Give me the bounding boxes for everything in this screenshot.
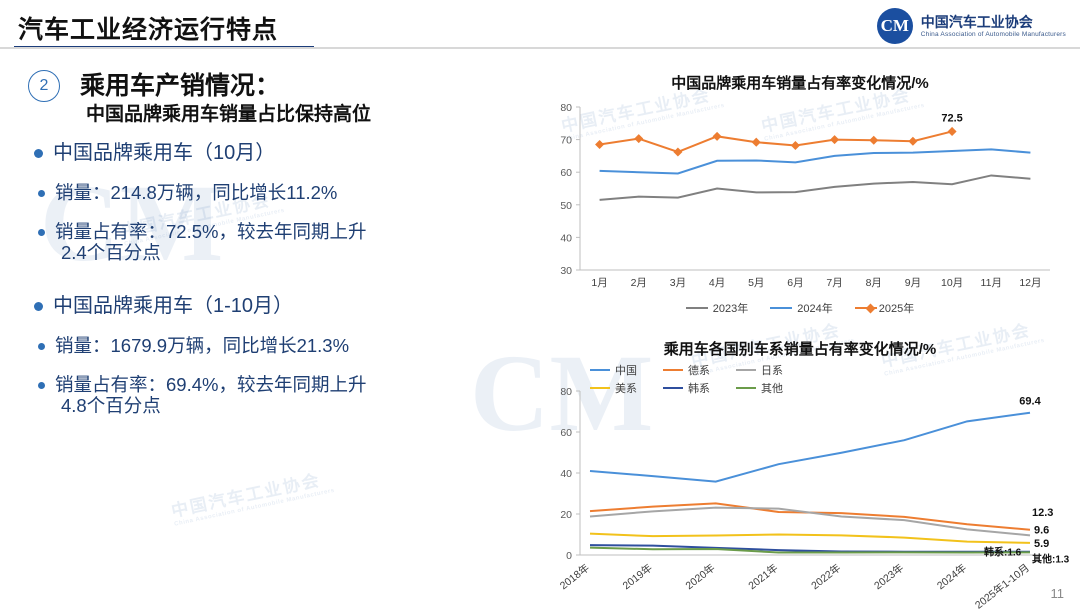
legend-swatch	[663, 369, 683, 371]
svg-text:70: 70	[560, 135, 572, 147]
legend-label: 美系	[615, 380, 637, 396]
legend-label: 德系	[688, 362, 710, 378]
svg-text:10月: 10月	[941, 277, 963, 289]
svg-text:2024年: 2024年	[934, 561, 969, 592]
legend-label: 日系	[761, 362, 783, 378]
logo-text-en: China Association of Automobile Manufact…	[921, 31, 1066, 38]
chart-title: 中国品牌乘用车销量占有率变化情况/%	[530, 72, 1070, 93]
svg-text:2023年: 2023年	[871, 561, 906, 592]
svg-text:80: 80	[560, 102, 572, 114]
legend-label: 其他	[761, 380, 783, 396]
svg-text:9月: 9月	[905, 277, 921, 289]
chart-canvas: 0204060802018年2019年2020年2021年2022年2023年2…	[530, 383, 1070, 613]
svg-text:69.4: 69.4	[1019, 396, 1041, 408]
legend-item: 其他	[736, 380, 783, 396]
svg-text:5.9: 5.9	[1034, 538, 1049, 550]
svg-text:0: 0	[566, 550, 572, 562]
svg-text:40: 40	[560, 468, 572, 480]
chart-canvas: 3040506070801月2月3月4月5月6月7月8月9月10月11月12月7…	[530, 93, 1070, 298]
logo-text-cn: 中国汽车工业协会	[921, 14, 1066, 30]
svg-text:9.6: 9.6	[1034, 524, 1049, 536]
svg-text:2021年: 2021年	[746, 561, 781, 592]
page-header: 汽车工业经济运行特点 CM 中国汽车工业协会 China Association…	[0, 0, 1080, 52]
caam-logo-icon: CM	[877, 8, 913, 44]
legend-item: 日系	[736, 362, 783, 378]
svg-text:2019年: 2019年	[620, 561, 655, 592]
svg-text:50: 50	[560, 200, 572, 212]
bullet-dot-icon	[34, 149, 43, 158]
list-item: 中国品牌乘用车（10月）	[34, 140, 504, 167]
svg-text:其他:1.3: 其他:1.3	[1032, 552, 1070, 565]
legend-item: 2025年	[855, 300, 914, 316]
legend-marker	[865, 303, 875, 313]
legend-label: 2023年	[713, 300, 748, 316]
header-divider	[0, 47, 1080, 49]
legend-swatch	[736, 387, 756, 389]
svg-text:5月: 5月	[748, 277, 764, 289]
chart-legend: 中国德系日系美系韩系其他	[590, 362, 783, 396]
bullet-dot-icon	[38, 343, 45, 350]
watermark: 中国汽车工业协会 China Association of Automobile…	[169, 463, 336, 527]
legend-item: 德系	[663, 362, 710, 378]
legend-item: 韩系	[663, 380, 710, 396]
svg-text:30: 30	[560, 265, 572, 277]
svg-text:3月: 3月	[670, 277, 686, 289]
legend-label: 2025年	[879, 300, 914, 316]
bullet-dot-icon	[38, 382, 45, 389]
svg-text:2025年1-10月: 2025年1-10月	[972, 561, 1032, 611]
legend-item: 2024年	[770, 300, 832, 316]
svg-text:6月: 6月	[787, 277, 803, 289]
svg-text:60: 60	[560, 427, 572, 439]
svg-text:8月: 8月	[866, 277, 882, 289]
legend-label: 2024年	[797, 300, 832, 316]
bullet-list: 中国品牌乘用车（10月） 销量：214.8万辆，同比增长11.2% 销量占有率：…	[34, 140, 504, 432]
svg-text:12月: 12月	[1019, 277, 1041, 289]
svg-text:2月: 2月	[631, 277, 647, 289]
legend-item: 中国	[590, 362, 637, 378]
page-number: 11	[1051, 586, 1065, 601]
legend-swatch	[686, 307, 708, 309]
list-item: 销量：1679.9万辆，同比增长21.3%	[34, 334, 504, 359]
svg-text:20: 20	[560, 509, 572, 521]
chart-brand-share: 中国品牌乘用车销量占有率变化情况/% 3040506070801月2月3月4月5…	[530, 72, 1070, 316]
section-heading-2: 中国品牌乘用车销量占比保持高位	[86, 99, 371, 126]
svg-text:2018年: 2018年	[557, 561, 592, 592]
bullet-dot-icon	[38, 229, 45, 236]
legend-item: 美系	[590, 380, 637, 396]
bullet-dot-icon	[38, 190, 45, 197]
svg-text:4月: 4月	[709, 277, 725, 289]
section-number-badge: 2	[28, 70, 60, 102]
svg-text:2020年: 2020年	[683, 561, 718, 592]
svg-text:7月: 7月	[826, 277, 842, 289]
legend-label: 中国	[615, 362, 637, 378]
bullet-dot-icon	[34, 302, 43, 311]
chart-country-share: 乘用车各国别车系销量占有率变化情况/% 中国德系日系美系韩系其他 0204060…	[530, 338, 1070, 613]
svg-text:72.5: 72.5	[941, 112, 962, 124]
page-title: 汽车工业经济运行特点	[18, 10, 278, 46]
svg-text:80: 80	[560, 386, 572, 398]
list-item: 销量：214.8万辆，同比增长11.2%	[34, 181, 504, 206]
section-heading-1: 乘用车产销情况：	[80, 66, 280, 102]
chart-title: 乘用车各国别车系销量占有率变化情况/%	[530, 338, 1070, 359]
legend-item: 2023年	[686, 300, 748, 316]
svg-text:11月: 11月	[981, 277, 1002, 289]
chart-legend: 2023年2024年2025年	[530, 300, 1070, 316]
svg-text:2022年: 2022年	[809, 561, 844, 592]
svg-text:40: 40	[560, 232, 572, 244]
legend-swatch	[663, 387, 683, 389]
svg-text:60: 60	[560, 167, 572, 179]
legend-swatch	[590, 369, 610, 371]
legend-swatch	[736, 369, 756, 371]
legend-swatch	[770, 307, 792, 309]
svg-text:1月: 1月	[591, 277, 607, 289]
svg-text:12.3: 12.3	[1032, 507, 1053, 519]
caam-logo: CM 中国汽车工业协会 China Association of Automob…	[877, 8, 1066, 44]
list-item: 中国品牌乘用车（1-10月）	[34, 293, 504, 320]
legend-label: 韩系	[688, 380, 710, 396]
svg-text:韩系:1.6: 韩系:1.6	[984, 546, 1022, 559]
legend-swatch	[590, 387, 610, 389]
